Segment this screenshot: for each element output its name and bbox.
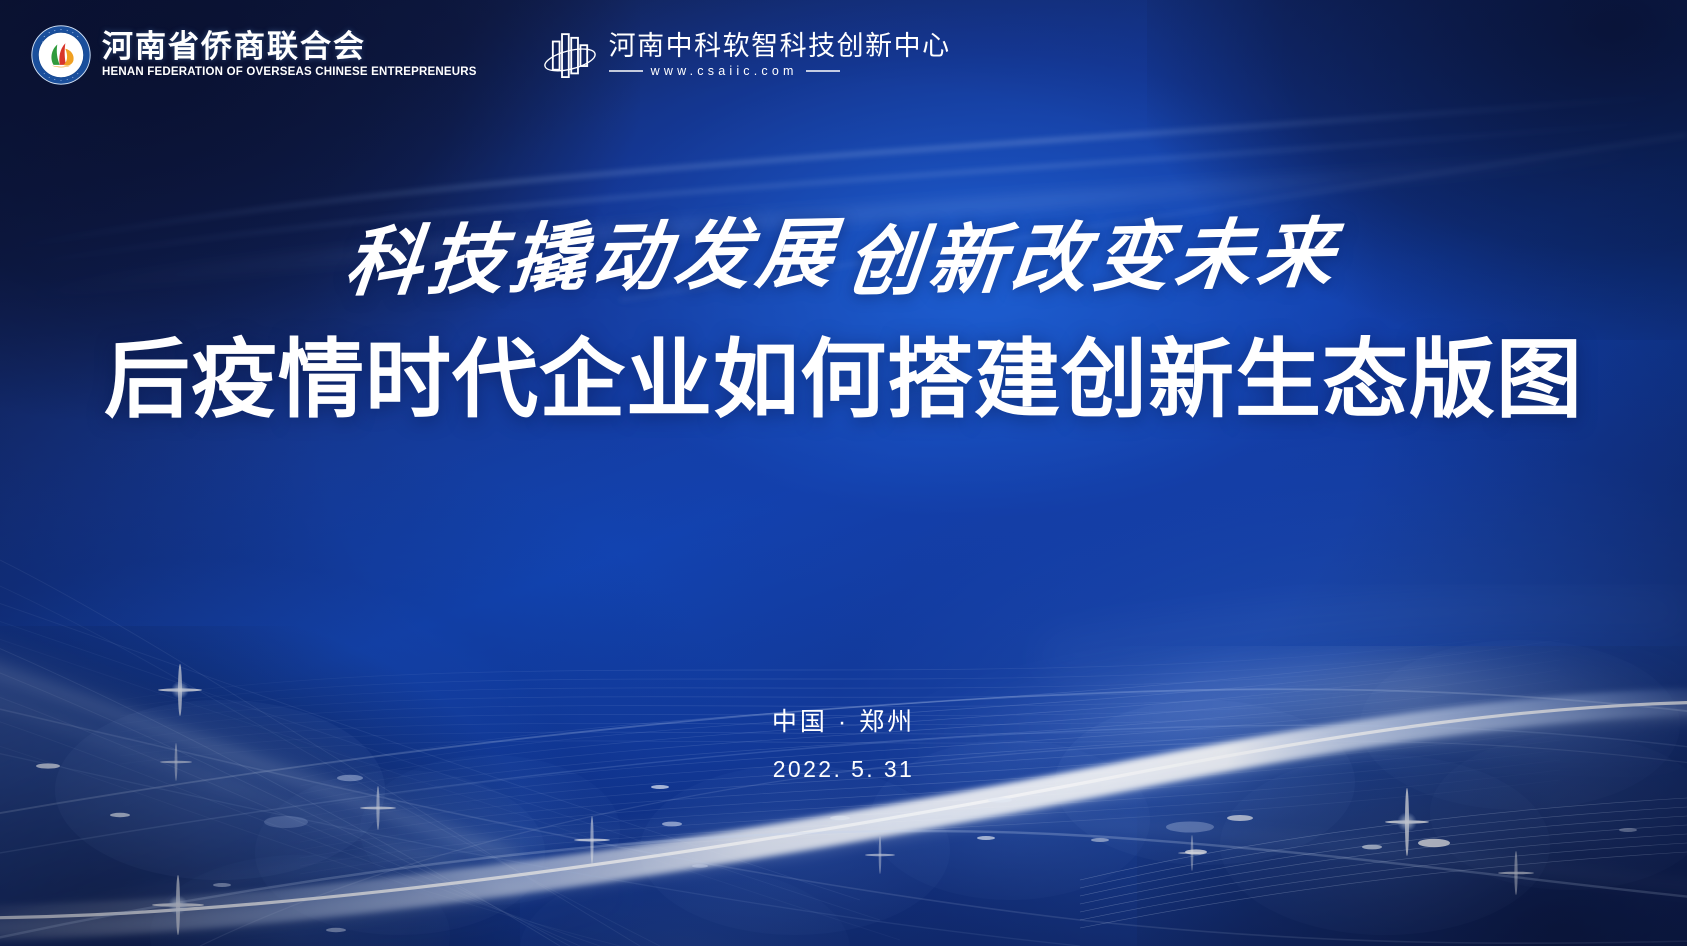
page-title: 后疫情时代企业如何搭建创新生态版图 xyxy=(104,337,1583,423)
federation-logo: 河南省侨商联合会 HENAN FEDERATION OF OVERSEAS CH… xyxy=(30,24,477,86)
slogan-left: 科技撬动发展 xyxy=(341,191,845,310)
bokeh-circle xyxy=(150,855,450,946)
background-waves-svg xyxy=(0,0,1687,946)
csaiic-text-block: 河南中科软智科技创新中心 www.csaiic.com xyxy=(609,32,951,79)
csaiic-url: www.csaiic.com xyxy=(651,64,798,78)
header-logos: 河南省侨商联合会 HENAN FEDERATION OF OVERSEAS CH… xyxy=(0,0,1687,86)
federation-text-block: 河南省侨商联合会 HENAN FEDERATION OF OVERSEAS CH… xyxy=(102,31,477,78)
csaiic-logo: 河南中科软智科技创新中心 www.csaiic.com xyxy=(539,28,951,82)
csaiic-url-row: www.csaiic.com xyxy=(609,64,951,78)
left-glow-band xyxy=(0,640,640,946)
slogan-row: 科技撬动发展 创新改变未来 xyxy=(0,196,1687,306)
event-location: 中国 · 郑州 xyxy=(0,703,1687,742)
henan-federation-emblem-icon xyxy=(30,24,92,86)
csaiic-name-cn: 河南中科软智科技创新中心 xyxy=(609,32,951,62)
top-right-haze xyxy=(1040,593,1687,676)
secondary-swoosh xyxy=(0,819,1687,946)
bokeh-circle xyxy=(520,865,850,946)
csaiic-building-orbit-icon xyxy=(539,28,601,82)
federation-name-cn: 河南省侨商联合会 xyxy=(102,31,477,64)
headline-row: 后疫情时代企业如何搭建创新生态版图 xyxy=(0,337,1687,423)
footer-info: 中国 · 郑州 2022. 5. 31 xyxy=(0,703,1687,783)
rule-left xyxy=(609,70,643,72)
rule-right xyxy=(806,70,840,72)
bokeh-circle xyxy=(640,765,950,935)
poster-canvas: 河南省侨商联合会 HENAN FEDERATION OF OVERSEAS CH… xyxy=(0,0,1687,946)
background-art xyxy=(0,0,1687,946)
corner-shadow-bottom-left xyxy=(0,626,520,946)
bokeh-circle xyxy=(255,770,545,935)
event-date: 2022. 5. 31 xyxy=(0,756,1687,783)
vignette-overlay xyxy=(0,0,1687,946)
corner-shadow-bottom-right xyxy=(1137,646,1687,946)
right-mesh-fan xyxy=(1080,798,1687,928)
slogan-right: 创新改变未来 xyxy=(842,191,1346,310)
federation-name-en: HENAN FEDERATION OF OVERSEAS CHINESE ENT… xyxy=(102,66,477,79)
